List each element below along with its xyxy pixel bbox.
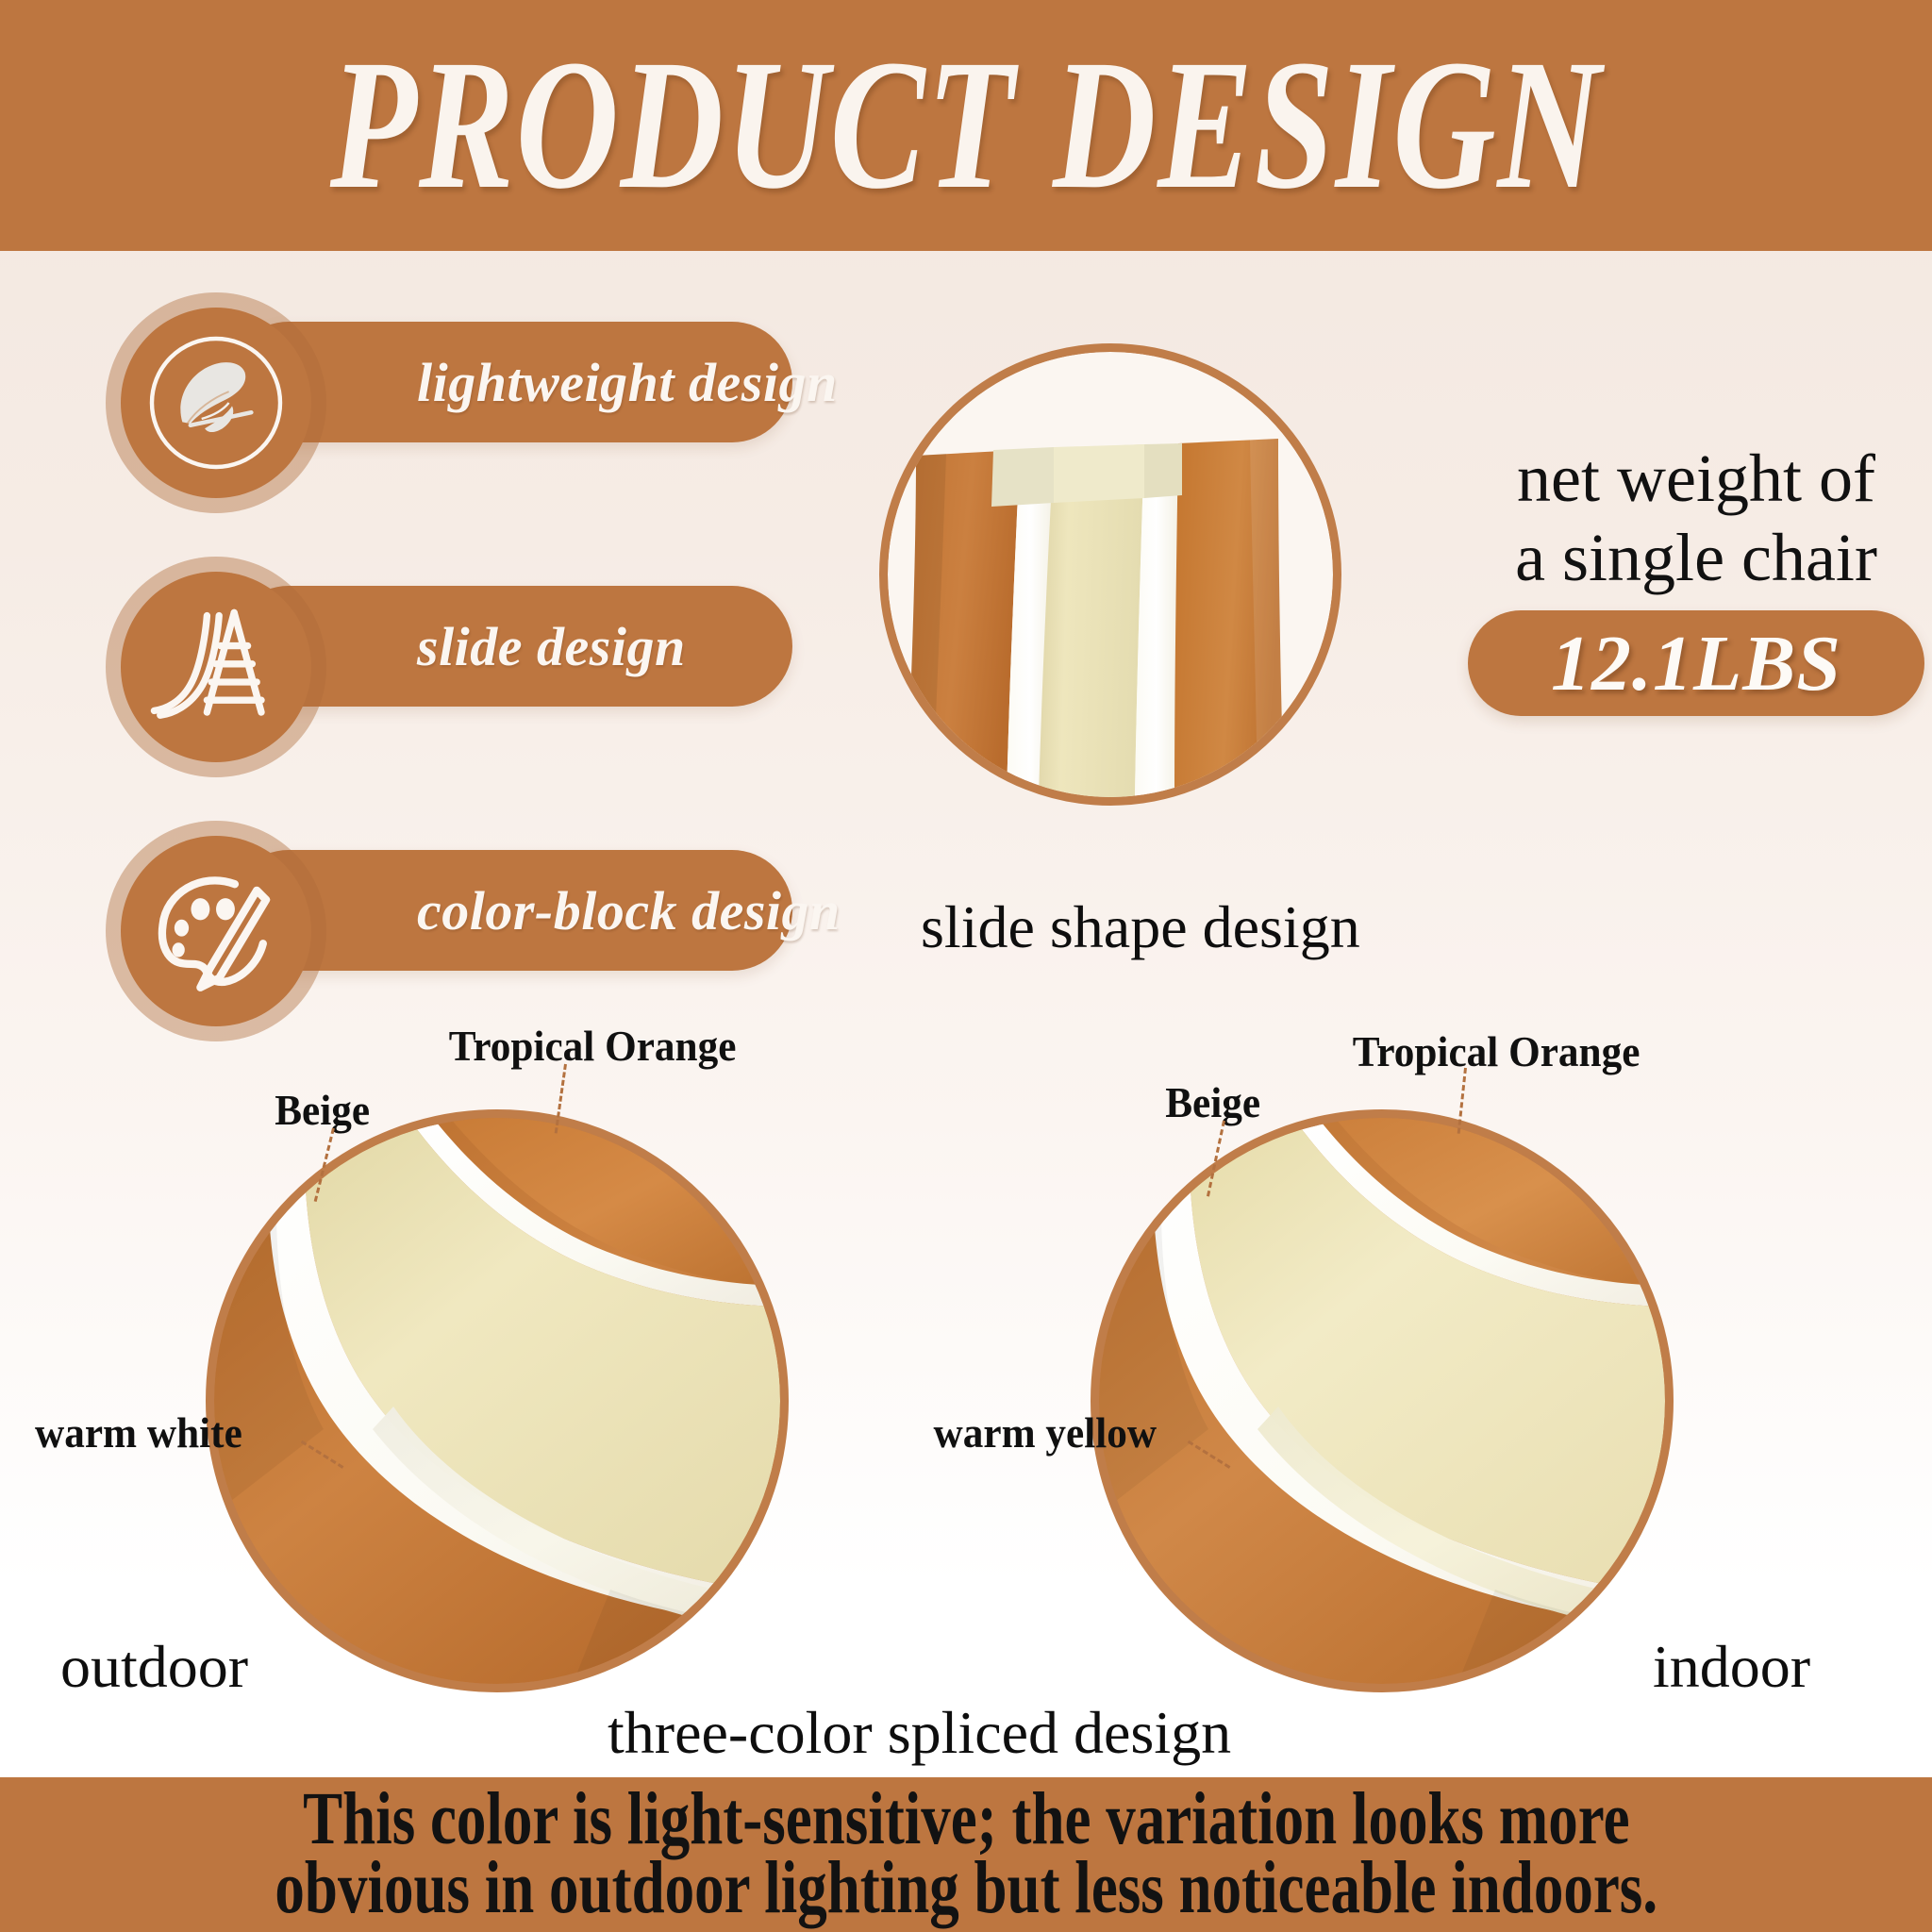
top-banner: PRODUCT DESIGN <box>0 0 1932 251</box>
comparison-caption: three-color spliced design <box>608 1698 1231 1768</box>
comparison-photo-indoor <box>1091 1109 1674 1692</box>
chair-back-illustration <box>888 352 1333 797</box>
feature-pill-slide[interactable]: slide design <box>228 586 792 707</box>
callout-beige-indoor: Beige <box>1165 1077 1260 1127</box>
chair-detail-indoor <box>1099 1118 1665 1684</box>
net-weight-line2: a single chair <box>1468 519 1924 598</box>
feature-badge-color-block[interactable] <box>121 836 311 1026</box>
page-title: PRODUCT DESIGN <box>330 32 1603 218</box>
env-label-outdoor: outdoor <box>60 1632 248 1702</box>
feather-icon <box>136 323 296 483</box>
feature-badge-lightweight[interactable] <box>121 308 311 498</box>
feature-label-color-block: color-block design <box>417 879 841 942</box>
net-weight-value: 12.1LBS <box>1551 618 1841 709</box>
callout-tropical-orange-indoor: Tropical Orange <box>1353 1026 1641 1076</box>
bottom-banner: This color is light-sensitive; the varia… <box>0 1777 1932 1932</box>
feature-pill-color-block[interactable]: color-block design <box>228 850 792 971</box>
slide-shape-caption: slide shape design <box>921 892 1360 962</box>
chair-detail-outdoor <box>214 1118 780 1684</box>
feature-pill-lightweight[interactable]: lightweight design <box>228 322 792 442</box>
net-weight-block: net weight of a single chair 12.1LBS <box>1468 440 1924 716</box>
palette-icon <box>138 853 294 1009</box>
callout-warm-white-outdoor: warm white <box>35 1407 242 1457</box>
slide-shape-photo-inner <box>888 352 1333 797</box>
callout-warm-yellow-indoor: warm yellow <box>934 1407 1158 1457</box>
slide-shape-photo <box>879 343 1341 806</box>
callout-beige-outdoor: Beige <box>275 1085 370 1135</box>
slide-icon <box>141 591 291 742</box>
feature-badge-slide[interactable] <box>121 572 311 762</box>
comparison-photo-indoor-inner <box>1099 1118 1665 1684</box>
feature-label-lightweight: lightweight design <box>417 351 838 414</box>
feature-label-slide: slide design <box>417 615 686 678</box>
comparison-photo-outdoor <box>206 1109 789 1692</box>
net-weight-line1: net weight of <box>1468 440 1924 519</box>
net-weight-pill: 12.1LBS <box>1468 610 1924 716</box>
callout-tropical-orange-outdoor: Tropical Orange <box>449 1021 737 1071</box>
footer-line2: obvious in outdoor lighting but less not… <box>275 1850 1657 1928</box>
env-label-indoor: indoor <box>1653 1632 1810 1702</box>
comparison-photo-outdoor-inner <box>214 1118 780 1684</box>
